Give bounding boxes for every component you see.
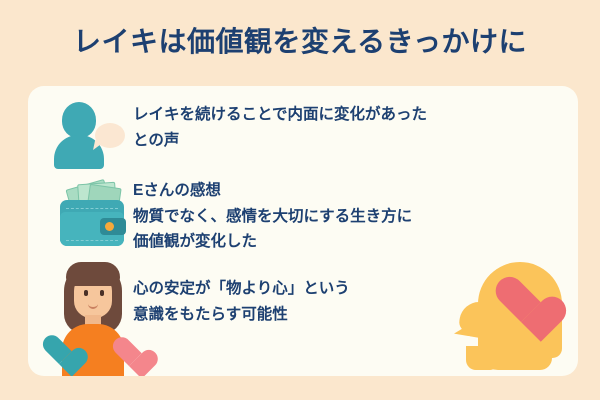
- list-item-line: レイキを続けることで内面に変化があった: [133, 102, 427, 128]
- content-card: レイキを続けることで内面に変化があった との声 Eさんの感想 物質でなく、感情を…: [28, 86, 578, 376]
- woman-fringe: [66, 262, 120, 286]
- page-title: レイキは価値観を変えるきっかけに: [0, 24, 600, 60]
- list-item-text-1: レイキを続けることで内面に変化があった との声: [133, 102, 427, 153]
- list-item-line: 心の安定が「物より心」という: [133, 276, 350, 302]
- head-mouth-gap: [454, 336, 472, 344]
- woman-eye-left: [84, 290, 88, 296]
- list-item-text-3: 心の安定が「物より心」という 意識をもたらす可能性: [133, 276, 350, 327]
- heart-pink-icon: [112, 338, 146, 372]
- heart-teal-icon: [42, 336, 76, 370]
- slide-root: レイキは価値観を変えるきっかけに レイキを続けることで内面に変化があった との声: [0, 0, 600, 400]
- woman-eye-right: [100, 290, 104, 296]
- wallet-money-icon: [54, 182, 132, 254]
- head-profile-heart-icon: [448, 262, 578, 376]
- wallet-stitch-line: [66, 208, 118, 209]
- list-item-text-2: Eさんの感想 物質でなく、感情を大切にする生き方に 価値観が変化した: [133, 178, 412, 255]
- speech-bubble-shape: [95, 123, 125, 148]
- list-item-line: 物質でなく、感情を大切にする生き方に: [133, 204, 412, 230]
- list-item-line: Eさんの感想: [133, 178, 412, 204]
- person-speech-bubble-icon: [54, 100, 128, 170]
- wallet-stitch-line: [66, 240, 118, 241]
- head-chin-shape: [466, 346, 496, 370]
- heart-in-head-icon: [494, 278, 548, 332]
- list-item-line: 価値観が変化した: [133, 229, 412, 255]
- list-item-line: 意識をもたらす可能性: [133, 302, 350, 328]
- person-head-shape: [62, 102, 96, 138]
- list-item-line: との声: [133, 128, 427, 154]
- wallet-clasp-button: [105, 222, 114, 231]
